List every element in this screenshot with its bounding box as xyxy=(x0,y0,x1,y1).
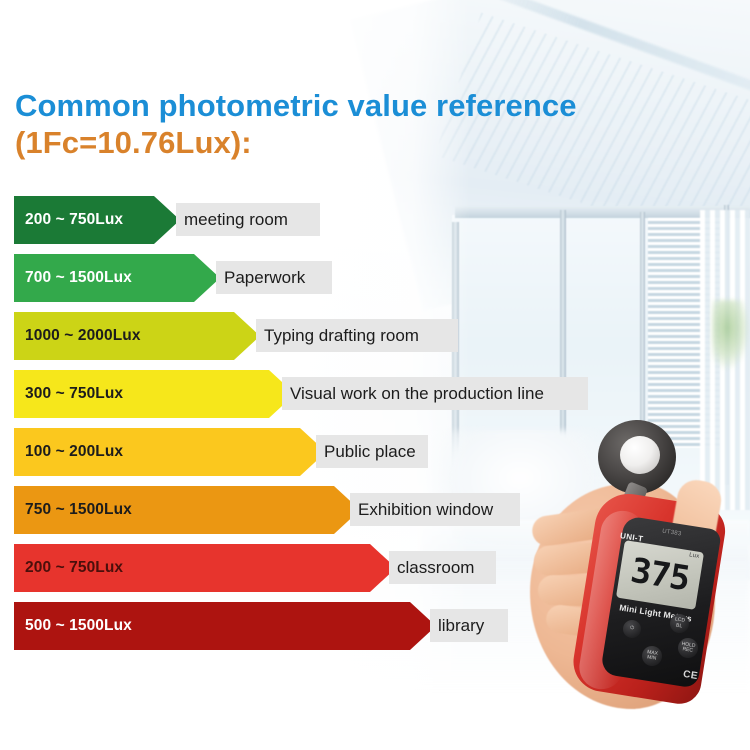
lux-arrow: 750 ~ 1500Lux xyxy=(14,486,360,534)
lux-range-text: 200 ~ 750Lux xyxy=(25,559,123,577)
arrow-body: 300 ~ 750Lux xyxy=(14,370,269,418)
title-line-conversion: (1Fc=10.76Lux): xyxy=(15,125,675,162)
lux-arrow: 300 ~ 750Lux xyxy=(14,370,295,418)
category-label: library xyxy=(430,609,508,642)
lux-range-text: 700 ~ 1500Lux xyxy=(25,269,132,287)
chart-row: 700 ~ 1500LuxPaperwork xyxy=(0,254,750,312)
lux-arrow: 500 ~ 1500Lux xyxy=(14,602,436,650)
arrow-body: 750 ~ 1500Lux xyxy=(14,486,334,534)
category-label: meeting room xyxy=(176,203,320,236)
lcd-screen: 375 Lux xyxy=(616,540,704,610)
page-title: Common photometric value reference (1Fc=… xyxy=(15,88,675,161)
lux-arrow: 200 ~ 750Lux xyxy=(14,544,396,592)
chart-row: 1000 ~ 2000LuxTyping drafting room xyxy=(0,312,750,370)
lcd-reading: 375 xyxy=(628,554,691,597)
lux-arrow: 200 ~ 750Lux xyxy=(14,196,180,244)
arrow-body: 200 ~ 750Lux xyxy=(14,196,154,244)
arrow-body: 200 ~ 750Lux xyxy=(14,544,370,592)
light-meter-device: UNI-T UT383 375 Lux Mini Light Meters ⏻ … xyxy=(520,418,750,718)
infographic-canvas: Common photometric value reference (1Fc=… xyxy=(0,0,750,750)
lux-range-text: 1000 ~ 2000Lux xyxy=(25,327,141,345)
lux-range-text: 300 ~ 750Lux xyxy=(25,385,123,403)
category-label: Public place xyxy=(316,435,428,468)
category-label: classroom xyxy=(389,551,496,584)
lux-arrow: 100 ~ 200Lux xyxy=(14,428,326,476)
category-label: Typing drafting room xyxy=(256,319,458,352)
lux-arrow: 700 ~ 1500Lux xyxy=(14,254,220,302)
sensor-diffuser xyxy=(620,436,660,474)
arrow-body: 700 ~ 1500Lux xyxy=(14,254,194,302)
lux-arrow: 1000 ~ 2000Lux xyxy=(14,312,260,360)
category-label: Exhibition window xyxy=(350,493,520,526)
category-label: Visual work on the production line xyxy=(282,377,588,410)
arrow-body: 1000 ~ 2000Lux xyxy=(14,312,234,360)
lux-range-text: 200 ~ 750Lux xyxy=(25,211,123,229)
ce-mark-icon: CE xyxy=(682,669,698,682)
arrow-body: 500 ~ 1500Lux xyxy=(14,602,410,650)
category-label: Paperwork xyxy=(216,261,332,294)
chart-row: 200 ~ 750Luxmeeting room xyxy=(0,196,750,254)
title-line-main: Common photometric value reference xyxy=(15,88,675,125)
lux-range-text: 750 ~ 1500Lux xyxy=(25,501,132,519)
lux-range-text: 100 ~ 200Lux xyxy=(25,443,123,461)
lux-range-text: 500 ~ 1500Lux xyxy=(25,617,132,635)
arrow-body: 100 ~ 200Lux xyxy=(14,428,300,476)
